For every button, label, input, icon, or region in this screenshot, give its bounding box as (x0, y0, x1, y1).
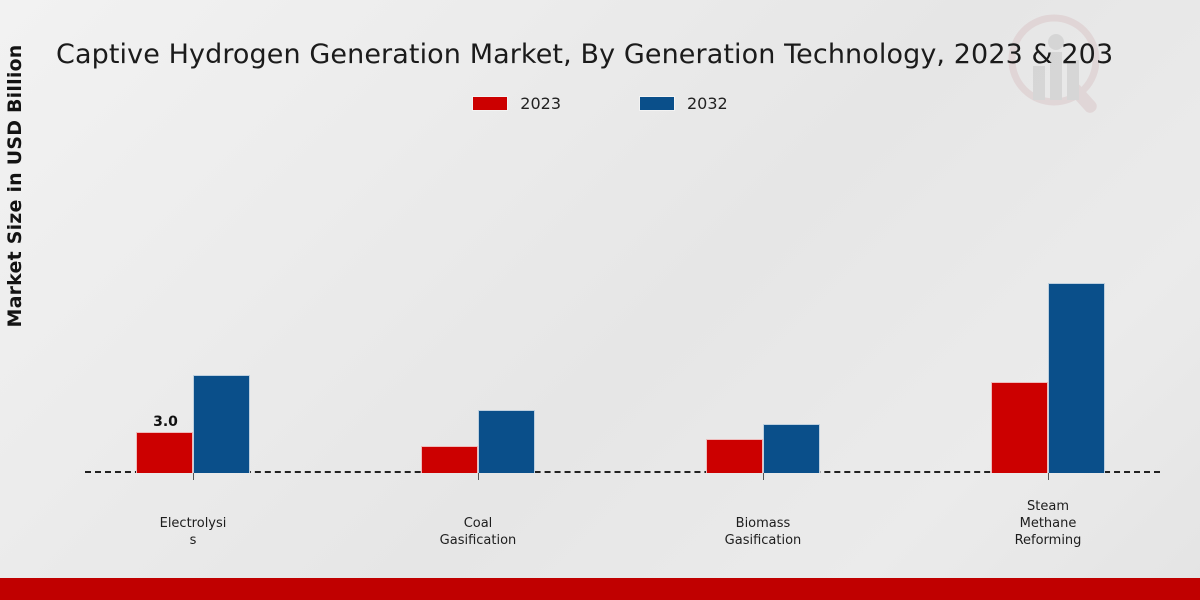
bar-2023[interactable] (991, 382, 1048, 473)
legend-item-2023[interactable]: 2023 (472, 94, 561, 113)
chart-canvas: Captive Hydrogen Generation Market, By G… (0, 0, 1200, 600)
legend-item-2032[interactable]: 2032 (639, 94, 728, 113)
category-line: Coal (395, 515, 561, 532)
x-axis-tick (763, 473, 764, 480)
legend-label-2032: 2032 (687, 94, 728, 113)
legend-label-2023: 2023 (520, 94, 561, 113)
plot-area: 3.0 Electrolysi s Coal Gasification Biom (85, 130, 1160, 473)
x-axis-category-label: Electrolysi s (110, 515, 276, 549)
y-axis-title: Market Size in USD Billion (4, 21, 26, 351)
x-axis-tick (193, 473, 194, 480)
x-axis-category-label: Steam Methane Reforming (965, 498, 1131, 549)
category-line: Reforming (965, 532, 1131, 549)
bar-2023[interactable] (706, 439, 763, 473)
category-line: Electrolysi (110, 515, 276, 532)
category-line: Biomass (680, 515, 846, 532)
category-line: Methane (965, 515, 1131, 532)
chart-title: Captive Hydrogen Generation Market, By G… (56, 38, 1113, 72)
x-axis-tick (1048, 473, 1049, 480)
bar-2032[interactable] (763, 424, 820, 473)
bar-2032[interactable] (478, 410, 535, 473)
category-line: Gasification (395, 532, 561, 549)
legend-swatch-2023 (472, 96, 508, 111)
footer-band (0, 578, 1200, 600)
category-line: Steam (965, 498, 1131, 515)
category-line: Gasification (680, 532, 846, 549)
legend-swatch-2032 (639, 96, 675, 111)
bar-2032[interactable] (1048, 283, 1105, 473)
bar-value-label: 3.0 (135, 414, 196, 430)
x-axis-category-label: Biomass Gasification (680, 515, 846, 549)
x-axis-tick (478, 473, 479, 480)
bar-2023[interactable]: 3.0 (136, 432, 193, 473)
bar-2032[interactable] (193, 375, 250, 473)
category-line: s (110, 532, 276, 549)
chart-legend: 2023 2032 (0, 94, 1200, 113)
bar-2023[interactable] (421, 446, 478, 473)
x-axis-category-label: Coal Gasification (395, 515, 561, 549)
